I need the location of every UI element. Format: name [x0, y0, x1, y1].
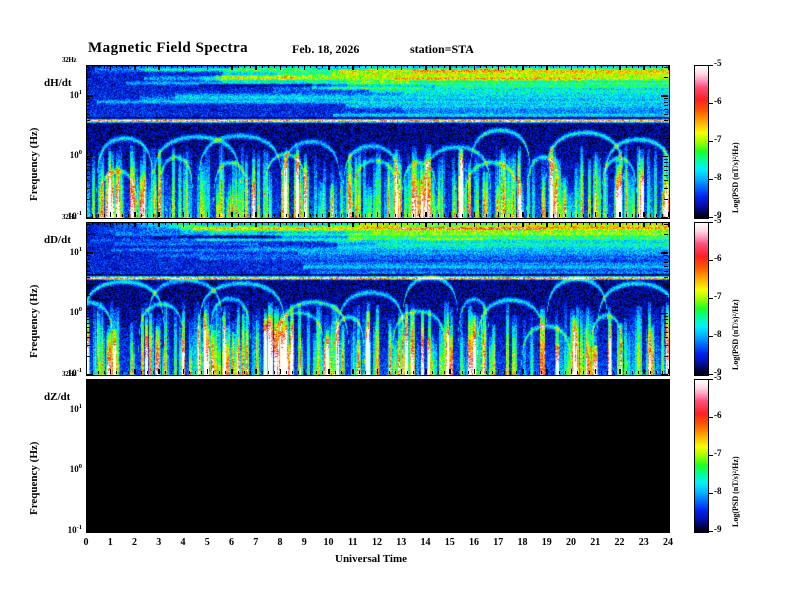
spectrogram-plot-dhdt[interactable]	[86, 65, 670, 219]
x-axis-major-tick	[110, 379, 112, 384]
x-axis-minor-tick	[389, 371, 390, 374]
x-axis-minor-tick	[462, 222, 463, 225]
x-axis-major-tick	[449, 212, 451, 217]
x-axis-minor-tick	[147, 528, 148, 531]
x-axis-major-tick	[328, 212, 330, 217]
x-axis-minor-tick	[650, 371, 651, 374]
y-axis-major-tick	[661, 470, 668, 472]
x-axis-major-tick	[449, 369, 451, 374]
x-axis-minor-tick	[432, 65, 433, 68]
x-axis-major-tick	[425, 65, 427, 70]
x-axis-major-tick	[377, 65, 379, 70]
x-axis-minor-tick	[177, 222, 178, 225]
x-axis-major-tick	[474, 379, 476, 384]
colorbar-tick-label: -7	[714, 448, 722, 458]
x-axis-minor-tick	[268, 222, 269, 225]
x-axis-minor-tick	[432, 222, 433, 225]
x-axis-major-tick	[86, 369, 88, 374]
y-axis-minor-tick	[86, 234, 90, 235]
y-axis-minor-tick	[664, 77, 668, 78]
x-axis-minor-tick	[407, 528, 408, 531]
x-axis-major-tick	[304, 212, 306, 217]
x-axis-major-tick	[377, 222, 379, 227]
y-axis-minor-tick	[664, 476, 668, 477]
x-axis-major-tick	[183, 526, 185, 531]
x-axis-minor-tick	[516, 379, 517, 382]
x-axis-minor-tick	[171, 379, 172, 382]
x-axis-minor-tick	[626, 214, 627, 217]
x-axis-tick-label: 9	[294, 537, 314, 548]
x-axis-minor-tick	[122, 214, 123, 217]
x-axis-major-tick	[449, 526, 451, 531]
y-axis-major-tick	[661, 252, 668, 254]
x-axis-minor-tick	[480, 379, 481, 382]
colorbar-axis-label: Log(PSD (nT/s)²/Hz)	[731, 299, 740, 370]
x-axis-minor-tick	[310, 528, 311, 531]
x-axis-minor-tick	[553, 222, 554, 225]
x-axis-minor-tick	[244, 528, 245, 531]
x-axis-minor-tick	[486, 379, 487, 382]
x-axis-minor-tick	[189, 528, 190, 531]
colorbar-tick	[708, 379, 713, 381]
x-axis-minor-tick	[529, 371, 530, 374]
colorbar-tick	[708, 260, 713, 262]
x-axis-major-tick	[110, 212, 112, 217]
x-axis-minor-tick	[298, 528, 299, 531]
x-axis-minor-tick	[432, 528, 433, 531]
x-axis-major-tick	[231, 379, 233, 384]
x-axis-tick-label: 13	[391, 537, 411, 548]
y-axis-minor-tick	[86, 105, 90, 106]
x-axis-major-tick	[377, 212, 379, 217]
x-axis-tick-label: 1	[100, 537, 120, 548]
x-axis-minor-tick	[268, 214, 269, 217]
x-axis-minor-tick	[583, 379, 584, 382]
x-axis-minor-tick	[632, 371, 633, 374]
x-axis-major-tick	[158, 379, 160, 384]
colorbar-tick-label: -6	[714, 96, 722, 106]
x-axis-minor-tick	[468, 65, 469, 68]
colorbar-tick	[708, 374, 713, 376]
x-axis-major-tick	[425, 212, 427, 217]
x-axis-minor-tick	[316, 379, 317, 382]
y-axis-minor-tick	[664, 180, 668, 181]
x-axis-major-tick	[304, 379, 306, 384]
x-axis-minor-tick	[510, 379, 511, 382]
x-axis-tick-label: 2	[125, 537, 145, 548]
x-axis-minor-tick	[268, 379, 269, 382]
x-axis-minor-tick	[444, 222, 445, 225]
x-axis-major-tick	[134, 379, 136, 384]
x-axis-minor-tick	[274, 379, 275, 382]
x-axis-major-tick	[401, 379, 403, 384]
x-axis-major-tick	[377, 526, 379, 531]
y-axis-minor-tick	[86, 337, 90, 338]
x-axis-minor-tick	[195, 65, 196, 68]
x-axis-minor-tick	[389, 528, 390, 531]
spectrogram-plot-dddt[interactable]	[86, 222, 670, 376]
y-axis-tick-label: 101	[50, 246, 82, 257]
x-axis-minor-tick	[262, 65, 263, 68]
x-axis-minor-tick	[292, 214, 293, 217]
x-axis-minor-tick	[541, 65, 542, 68]
x-axis-minor-tick	[656, 214, 657, 217]
x-axis-minor-tick	[419, 65, 420, 68]
x-axis-major-tick	[546, 212, 548, 217]
y-axis-minor-tick	[86, 356, 90, 357]
x-axis-minor-tick	[189, 371, 190, 374]
x-axis-minor-tick	[201, 222, 202, 225]
x-axis-minor-tick	[250, 379, 251, 382]
x-axis-minor-tick	[601, 222, 602, 225]
x-axis-minor-tick	[607, 214, 608, 217]
x-axis-minor-tick	[565, 65, 566, 68]
x-axis-major-tick	[522, 222, 524, 227]
x-axis-major-tick	[207, 369, 209, 374]
x-axis-minor-tick	[250, 214, 251, 217]
x-axis-minor-tick	[316, 222, 317, 225]
x-axis-major-tick	[280, 65, 282, 70]
x-axis-minor-tick	[601, 65, 602, 68]
x-axis-minor-tick	[116, 214, 117, 217]
x-axis-major-tick	[255, 222, 257, 227]
x-axis-minor-tick	[565, 371, 566, 374]
x-axis-minor-tick	[189, 222, 190, 225]
y-axis-minor-tick	[86, 391, 90, 392]
x-axis-minor-tick	[335, 222, 336, 225]
x-axis-minor-tick	[141, 371, 142, 374]
y-axis-minor-tick	[664, 188, 668, 189]
x-axis-minor-tick	[383, 379, 384, 382]
x-axis-minor-tick	[553, 65, 554, 68]
y-axis-minor-tick	[86, 476, 90, 477]
x-axis-major-tick	[255, 526, 257, 531]
x-axis-minor-tick	[359, 379, 360, 382]
x-axis-major-tick	[498, 65, 500, 70]
y-axis-minor-tick	[86, 259, 90, 260]
x-axis-major-tick	[110, 222, 112, 227]
y-axis-minor-tick	[664, 356, 668, 357]
y-axis-minor-tick	[664, 416, 668, 417]
y-axis-minor-tick	[86, 319, 90, 320]
x-axis-minor-tick	[407, 371, 408, 374]
x-axis-major-tick	[231, 65, 233, 70]
x-axis-minor-tick	[456, 371, 457, 374]
x-axis-minor-tick	[529, 379, 530, 382]
x-axis-minor-tick	[213, 528, 214, 531]
x-axis-minor-tick	[468, 379, 469, 382]
x-axis-minor-tick	[335, 65, 336, 68]
x-axis-minor-tick	[419, 528, 420, 531]
x-axis-minor-tick	[626, 371, 627, 374]
colorbar-tick-label: -7	[714, 134, 722, 144]
x-axis-minor-tick	[510, 528, 511, 531]
x-axis-minor-tick	[432, 371, 433, 374]
x-axis-minor-tick	[262, 528, 263, 531]
x-axis-major-tick	[86, 222, 88, 227]
x-axis-major-tick	[668, 65, 670, 70]
x-axis-minor-tick	[171, 214, 172, 217]
y-axis-minor-tick	[86, 412, 90, 413]
x-axis-minor-tick	[298, 222, 299, 225]
x-axis-minor-tick	[274, 214, 275, 217]
x-axis-minor-tick	[262, 371, 263, 374]
colorbar-tick	[708, 493, 713, 495]
x-axis-minor-tick	[650, 528, 651, 531]
y-axis-minor-tick	[86, 480, 90, 481]
y-axis-minor-tick	[86, 102, 90, 103]
x-axis-tick-label: 17	[488, 537, 508, 548]
x-axis-minor-tick	[365, 379, 366, 382]
y-axis-minor-tick	[664, 428, 668, 429]
x-axis-tick-label: 14	[416, 537, 436, 548]
x-axis-minor-tick	[341, 379, 342, 382]
x-axis-minor-tick	[347, 222, 348, 225]
x-axis-major-tick	[280, 222, 282, 227]
x-axis-minor-tick	[92, 214, 93, 217]
x-axis-minor-tick	[444, 528, 445, 531]
x-axis-major-tick	[595, 65, 597, 70]
colorbar-tick	[708, 222, 713, 224]
x-axis-minor-tick	[626, 528, 627, 531]
x-axis-major-tick	[643, 369, 645, 374]
x-axis-major-tick	[571, 369, 573, 374]
x-axis-minor-tick	[516, 214, 517, 217]
x-axis-major-tick	[207, 526, 209, 531]
x-axis-tick-label: 24	[658, 537, 678, 548]
x-axis-major-tick	[595, 222, 597, 227]
x-axis-minor-tick	[341, 371, 342, 374]
x-axis-major-tick	[474, 526, 476, 531]
x-axis-major-tick	[595, 369, 597, 374]
y-axis-minor-tick	[664, 199, 668, 200]
x-axis-minor-tick	[250, 222, 251, 225]
y-axis-minor-tick	[86, 473, 90, 474]
x-axis-minor-tick	[577, 222, 578, 225]
y-axis-minor-tick	[86, 332, 90, 333]
y-axis-minor-tick	[664, 441, 668, 442]
x-axis-minor-tick	[219, 222, 220, 225]
y-axis-minor-tick	[86, 262, 90, 263]
x-axis-minor-tick	[462, 371, 463, 374]
y-axis-minor-tick	[664, 114, 668, 115]
x-axis-major-tick	[401, 222, 403, 227]
x-axis-minor-tick	[225, 371, 226, 374]
x-axis-minor-tick	[165, 65, 166, 68]
x-axis-major-tick	[207, 379, 209, 384]
x-axis-major-tick	[86, 212, 88, 217]
x-axis-minor-tick	[419, 214, 420, 217]
x-axis-minor-tick	[535, 371, 536, 374]
x-axis-minor-tick	[244, 65, 245, 68]
x-axis-tick-label: 7	[246, 537, 266, 548]
x-axis-major-tick	[110, 369, 112, 374]
x-axis-minor-tick	[535, 65, 536, 68]
x-axis-major-tick	[474, 369, 476, 374]
y-axis-minor-tick	[664, 120, 668, 121]
x-axis-minor-tick	[395, 222, 396, 225]
colorbar-tick	[708, 455, 713, 457]
y-axis-major-tick	[86, 95, 93, 97]
x-axis-major-tick	[522, 212, 524, 217]
colorbar-tick	[708, 417, 713, 419]
x-axis-minor-tick	[480, 528, 481, 531]
x-axis-minor-tick	[225, 65, 226, 68]
station-label: station=STA	[410, 42, 474, 57]
y-axis-minor-tick	[664, 452, 668, 453]
x-axis-minor-tick	[583, 371, 584, 374]
x-axis-minor-tick	[128, 379, 129, 382]
x-axis-major-tick	[231, 212, 233, 217]
x-axis-major-tick	[158, 212, 160, 217]
x-axis-minor-tick	[632, 379, 633, 382]
spectrogram-image	[87, 380, 669, 532]
x-axis-tick-label: 4	[173, 537, 193, 548]
x-axis-minor-tick	[359, 371, 360, 374]
x-axis-minor-tick	[613, 528, 614, 531]
x-axis-major-tick	[571, 379, 573, 384]
x-axis-minor-tick	[480, 222, 481, 225]
y-axis-tick-label: 100	[50, 149, 82, 160]
x-axis-minor-tick	[541, 528, 542, 531]
x-axis-major-tick	[401, 212, 403, 217]
x-axis-minor-tick	[122, 371, 123, 374]
x-axis-minor-tick	[438, 222, 439, 225]
x-axis-major-tick	[571, 212, 573, 217]
y-axis-minor-tick	[664, 391, 668, 392]
x-axis-minor-tick	[141, 379, 142, 382]
y-axis-minor-tick	[86, 120, 90, 121]
y-axis-minor-tick	[664, 138, 668, 139]
x-axis-minor-tick	[292, 222, 293, 225]
x-axis-minor-tick	[589, 222, 590, 225]
x-axis-minor-tick	[601, 214, 602, 217]
colorbar-tick-label: -5	[714, 215, 722, 225]
x-axis-minor-tick	[413, 222, 414, 225]
x-axis-minor-tick	[286, 222, 287, 225]
x-axis-minor-tick	[638, 528, 639, 531]
x-axis-minor-tick	[244, 214, 245, 217]
x-axis-minor-tick	[335, 371, 336, 374]
x-axis-minor-tick	[456, 214, 457, 217]
colorbar-tick	[708, 65, 713, 67]
x-axis-minor-tick	[122, 65, 123, 68]
y-axis-minor-tick	[86, 77, 90, 78]
x-axis-minor-tick	[565, 214, 566, 217]
x-axis-minor-tick	[438, 214, 439, 217]
x-axis-major-tick	[401, 369, 403, 374]
x-axis-minor-tick	[662, 371, 663, 374]
x-axis-minor-tick	[650, 214, 651, 217]
x-axis-minor-tick	[413, 65, 414, 68]
x-axis-minor-tick	[395, 371, 396, 374]
x-axis-minor-tick	[444, 379, 445, 382]
x-axis-minor-tick	[413, 528, 414, 531]
x-axis-tick-label: 0	[76, 537, 96, 548]
x-axis-minor-tick	[480, 214, 481, 217]
x-axis-minor-tick	[589, 379, 590, 382]
x-axis-minor-tick	[238, 214, 239, 217]
x-axis-minor-tick	[638, 379, 639, 382]
x-axis-major-tick	[86, 526, 88, 531]
y-axis-minor-tick	[664, 327, 668, 328]
x-axis-minor-tick	[359, 214, 360, 217]
x-axis-minor-tick	[438, 371, 439, 374]
colorbar-tick	[708, 531, 713, 533]
x-axis-major-tick	[425, 222, 427, 227]
x-axis-minor-tick	[504, 379, 505, 382]
x-axis-minor-tick	[359, 65, 360, 68]
x-axis-minor-tick	[638, 214, 639, 217]
x-axis-minor-tick	[389, 379, 390, 382]
header: Magnetic Field Spectra Feb. 18, 2026 sta…	[0, 40, 792, 60]
x-axis-major-tick	[328, 369, 330, 374]
x-axis-minor-tick	[292, 371, 293, 374]
x-axis-major-tick	[498, 526, 500, 531]
x-axis-tick-label: 10	[319, 537, 339, 548]
x-axis-minor-tick	[516, 222, 517, 225]
y-axis-major-tick	[86, 313, 93, 315]
x-axis-minor-tick	[492, 371, 493, 374]
x-axis-minor-tick	[510, 214, 511, 217]
x-axis-major-tick	[183, 369, 185, 374]
x-axis-minor-tick	[407, 379, 408, 382]
x-axis-minor-tick	[662, 65, 663, 68]
y-axis-minor-tick	[86, 323, 90, 324]
x-axis-tick-label: 19	[537, 537, 557, 548]
x-axis-minor-tick	[316, 528, 317, 531]
colorbar	[694, 379, 709, 533]
spectrogram-plot-dzdt[interactable]	[86, 379, 670, 533]
x-axis-minor-tick	[577, 379, 578, 382]
x-axis-minor-tick	[541, 214, 542, 217]
spectrogram-image	[87, 66, 669, 218]
x-axis-minor-tick	[153, 214, 154, 217]
y-axis-minor-tick	[664, 127, 668, 128]
colorbar-tick-label: -9	[714, 524, 722, 534]
y-axis-minor-tick	[86, 295, 90, 296]
x-axis-minor-tick	[153, 379, 154, 382]
x-axis-minor-tick	[153, 371, 154, 374]
x-axis-major-tick	[352, 379, 354, 384]
x-axis-minor-tick	[171, 65, 172, 68]
y-axis-minor-tick	[86, 316, 90, 317]
x-axis-major-tick	[498, 369, 500, 374]
y-axis-minor-tick	[664, 259, 668, 260]
y-axis-minor-tick	[664, 423, 668, 424]
x-axis-minor-tick	[147, 214, 148, 217]
x-axis-minor-tick	[347, 65, 348, 68]
x-axis-minor-tick	[195, 379, 196, 382]
y-axis-minor-tick	[664, 102, 668, 103]
y-axis-minor-tick	[664, 271, 668, 272]
colorbar-tick-label: -6	[714, 410, 722, 420]
y-axis-major-tick	[661, 409, 668, 411]
x-axis-tick-label: 6	[222, 537, 242, 548]
x-axis-minor-tick	[371, 65, 372, 68]
y-axis-minor-tick	[664, 484, 668, 485]
x-axis-minor-tick	[383, 222, 384, 225]
x-axis-minor-tick	[468, 214, 469, 217]
x-axis-minor-tick	[504, 371, 505, 374]
x-axis-minor-tick	[456, 65, 457, 68]
x-axis-major-tick	[110, 526, 112, 531]
x-axis-minor-tick	[656, 65, 657, 68]
x-axis-minor-tick	[444, 214, 445, 217]
x-axis-minor-tick	[98, 214, 99, 217]
colorbar-tick-label: -6	[714, 253, 722, 263]
x-axis-major-tick	[668, 379, 670, 384]
